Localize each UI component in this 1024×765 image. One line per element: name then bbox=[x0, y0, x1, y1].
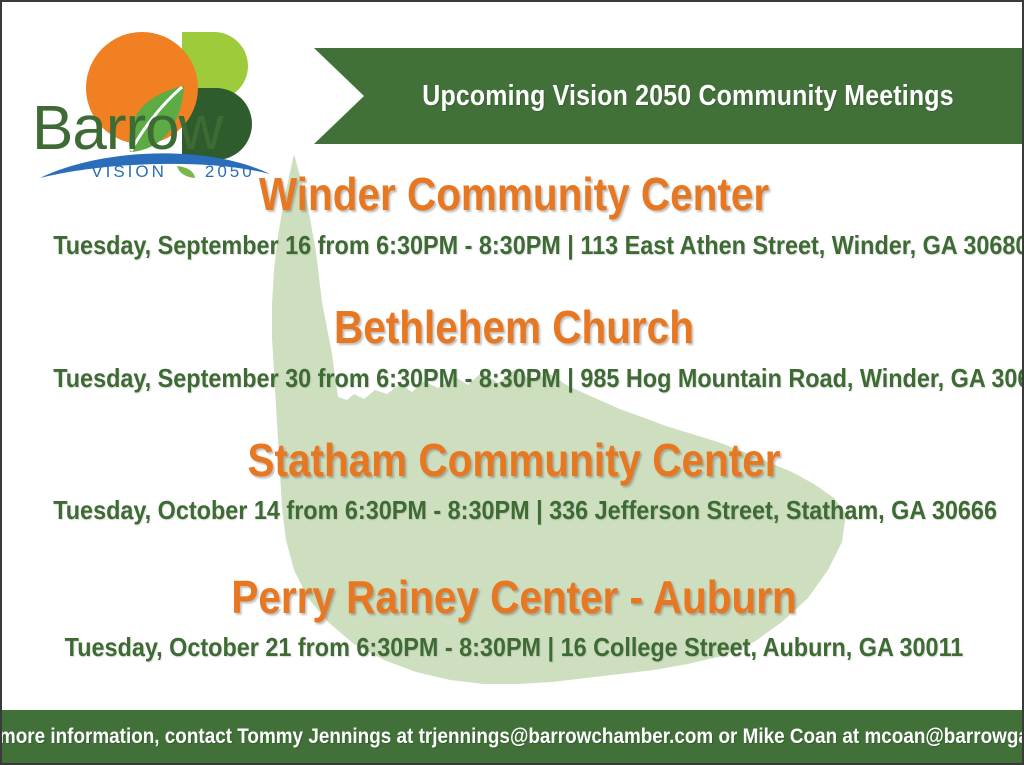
meeting-item: Winder Community Center Tuesday, Septemb… bbox=[2, 170, 1024, 261]
meeting-item: Statham Community Center Tuesday, Octobe… bbox=[2, 436, 1024, 527]
logo-tagline-vision: VISION bbox=[91, 162, 167, 182]
meeting-item: Perry Rainey Center - Auburn Tuesday, Oc… bbox=[2, 573, 1024, 664]
logo-wordmark-group: Barrow VISION 2050 bbox=[32, 98, 292, 182]
header-ribbon: Upcoming Vision 2050 Community Meetings bbox=[314, 48, 1024, 144]
meeting-venue: Perry Rainey Center - Auburn bbox=[63, 573, 964, 623]
logo-wordmark: Barrow bbox=[32, 98, 292, 160]
meeting-item: Bethlehem Church Tuesday, September 30 f… bbox=[2, 303, 1024, 394]
meeting-venue: Statham Community Center bbox=[63, 436, 964, 486]
meeting-venue: Bethlehem Church bbox=[63, 303, 964, 353]
footer-bar: For more information, contact Tommy Jenn… bbox=[2, 710, 1024, 763]
meetings-list: Winder Community Center Tuesday, Septemb… bbox=[2, 170, 1024, 671]
page-title: Upcoming Vision 2050 Community Meetings bbox=[418, 48, 958, 144]
logo-tagline-leaf-icon bbox=[175, 164, 197, 180]
footer-contact-text: For more information, contact Tommy Jenn… bbox=[0, 725, 1024, 749]
meeting-details: Tuesday, September 16 from 6:30PM - 8:30… bbox=[53, 230, 975, 261]
flyer-poster: Barrow VISION 2050 Upcoming Vision 2050 … bbox=[0, 0, 1024, 765]
meeting-details: Tuesday, October 14 from 6:30PM - 8:30PM… bbox=[53, 495, 975, 526]
meeting-details: Tuesday, September 30 from 6:30PM - 8:30… bbox=[53, 363, 975, 394]
logo-tagline: VISION 2050 bbox=[54, 162, 292, 182]
logo-tagline-year: 2050 bbox=[205, 162, 255, 182]
meeting-details: Tuesday, October 21 from 6:30PM - 8:30PM… bbox=[53, 632, 975, 663]
